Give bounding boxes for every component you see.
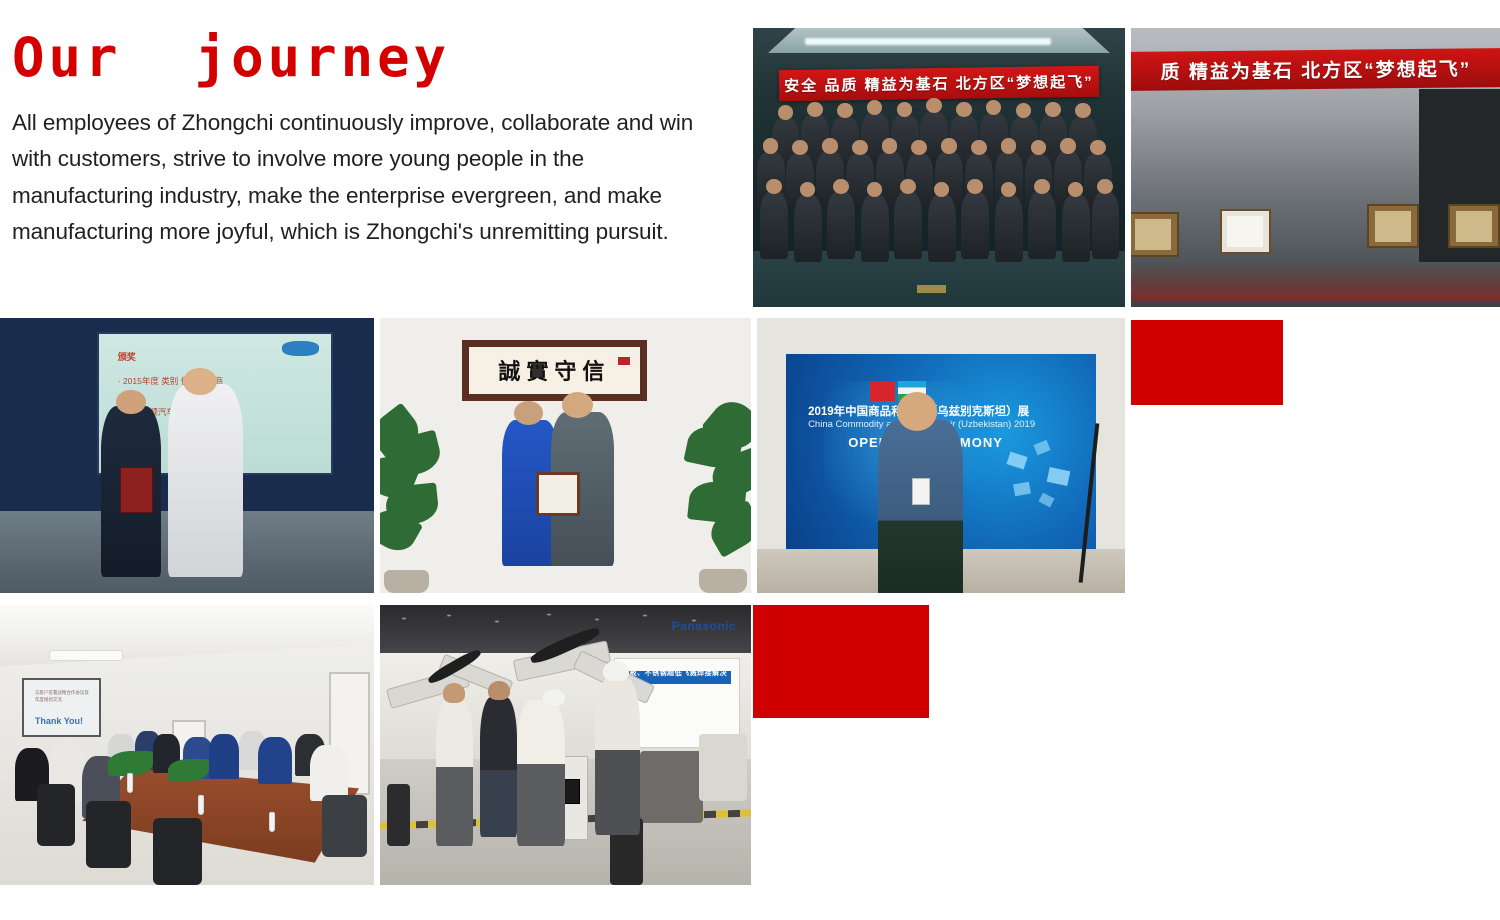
photo-scene: Panasonic 薄板、不锈钢超低飞溅焊接解决方案 xyxy=(380,605,751,885)
water-bottle xyxy=(198,795,204,815)
red-banner: 质 精益为基石 北方区“梦想起飞” xyxy=(1131,48,1500,91)
award-plaque xyxy=(1131,212,1179,257)
photo-expo-uzbekistan[interactable]: 2019年中国商品和服务（乌兹别克斯坦）展 China Commodity an… xyxy=(757,318,1125,593)
photo-certificate-handover[interactable]: 誠實守信 xyxy=(380,318,751,593)
photo-customer-meeting[interactable]: 与客户签署战略合作协议及年度规划交流 Thank You! xyxy=(0,605,374,885)
banner-text: 质 精益为基石 北方区“梦想起飞” xyxy=(1131,48,1500,91)
plant-right xyxy=(662,395,751,593)
panasonic-brand-logo: Panasonic xyxy=(672,619,737,633)
photo-supplier-award[interactable]: 颁奖 · 2015年度 类别 优良供应商 皮顺汽车零部件有限公司 xyxy=(0,318,374,593)
award-plaque xyxy=(1448,204,1500,249)
slide-text: 与客户签署战略合作协议及年度规划交流 xyxy=(35,689,90,704)
calligraphy-text: 誠實守信 xyxy=(469,347,641,394)
office-chair xyxy=(153,818,202,885)
slide-title: 颁奖 xyxy=(118,350,136,363)
steel-post xyxy=(387,784,409,846)
person-head xyxy=(897,392,937,431)
plant-pot xyxy=(699,569,747,593)
name-badge xyxy=(912,478,930,506)
ceiling-lamp xyxy=(49,650,124,661)
worker-head xyxy=(443,683,465,703)
shard-graphics xyxy=(1000,437,1080,520)
plant-left xyxy=(380,401,462,594)
red-placeholder-block[interactable] xyxy=(1131,320,1283,405)
worker xyxy=(480,697,517,837)
positioner-machine xyxy=(640,751,703,824)
photo-scene: 与客户签署战略合作协议及年度规划交流 Thank You! xyxy=(0,605,374,885)
chair-row xyxy=(1131,262,1500,301)
office-chair xyxy=(86,801,131,868)
framed-certificate xyxy=(536,472,581,516)
intro-paragraph: All employees of Zhongchi continuously i… xyxy=(12,105,722,251)
photo-scene: 誠實守信 xyxy=(380,318,751,593)
red-placeholder-block[interactable] xyxy=(753,605,929,718)
crowd xyxy=(753,95,1125,262)
worker xyxy=(595,678,640,835)
intro-block: Our journey All employees of Zhongchi co… xyxy=(12,30,722,250)
slide-thanks: Thank You! xyxy=(35,716,83,726)
person-head xyxy=(116,390,146,415)
award-plaque xyxy=(1220,209,1272,254)
photo-welding-robot-demo[interactable]: Panasonic 薄板、不锈钢超低飞溅焊接解决方案 xyxy=(380,605,751,885)
photo-award-ceremony[interactable]: 质 精益为基石 北方区“梦想起飞” xyxy=(1131,28,1500,307)
office-chair xyxy=(37,784,74,846)
worker-cap xyxy=(603,661,629,681)
award-plaque xyxy=(1367,204,1419,249)
floor-marker xyxy=(917,285,947,293)
worker-cap xyxy=(543,689,565,706)
page-title: Our journey xyxy=(12,30,722,87)
projector-screen: 与客户签署战略合作协议及年度规划交流 Thank You! xyxy=(22,678,101,737)
calligraphy-frame: 誠實守信 xyxy=(462,340,648,401)
water-bottle xyxy=(269,812,275,832)
award-folder xyxy=(120,467,154,514)
person-standing xyxy=(878,420,963,593)
photo-scene: 2019年中国商品和服务（乌兹别克斯坦）展 China Commodity an… xyxy=(757,318,1125,593)
table-plant xyxy=(108,751,153,776)
welding-power-source xyxy=(699,734,747,801)
person-right xyxy=(168,384,243,577)
person-head xyxy=(183,368,217,396)
photo-scene: 质 精益为基石 北方区“梦想起飞” xyxy=(1131,28,1500,307)
photo-group-banner[interactable]: 安全 品质 精益为基石 北方区“梦想起飞” xyxy=(753,28,1125,307)
worker-head xyxy=(488,681,510,701)
photo-scene: 颁奖 · 2015年度 类别 优良供应商 皮顺汽车零部件有限公司 xyxy=(0,318,374,593)
worker xyxy=(517,700,565,846)
seal-stamp xyxy=(618,357,630,364)
backdrop-title-cn: 2019年中国商品和服务（乌兹别克斯坦）展 xyxy=(808,403,1074,419)
page-root: Our journey All employees of Zhongchi co… xyxy=(0,0,1500,920)
plant-pot xyxy=(384,570,428,593)
brand-logo xyxy=(282,341,319,356)
water-bottle xyxy=(127,773,133,793)
photo-scene: 安全 品质 精益为基石 北方区“梦想起飞” xyxy=(753,28,1125,307)
worker xyxy=(436,700,473,846)
ceiling-light xyxy=(805,38,1051,45)
china-flag-icon xyxy=(870,381,895,401)
office-chair xyxy=(322,795,367,857)
